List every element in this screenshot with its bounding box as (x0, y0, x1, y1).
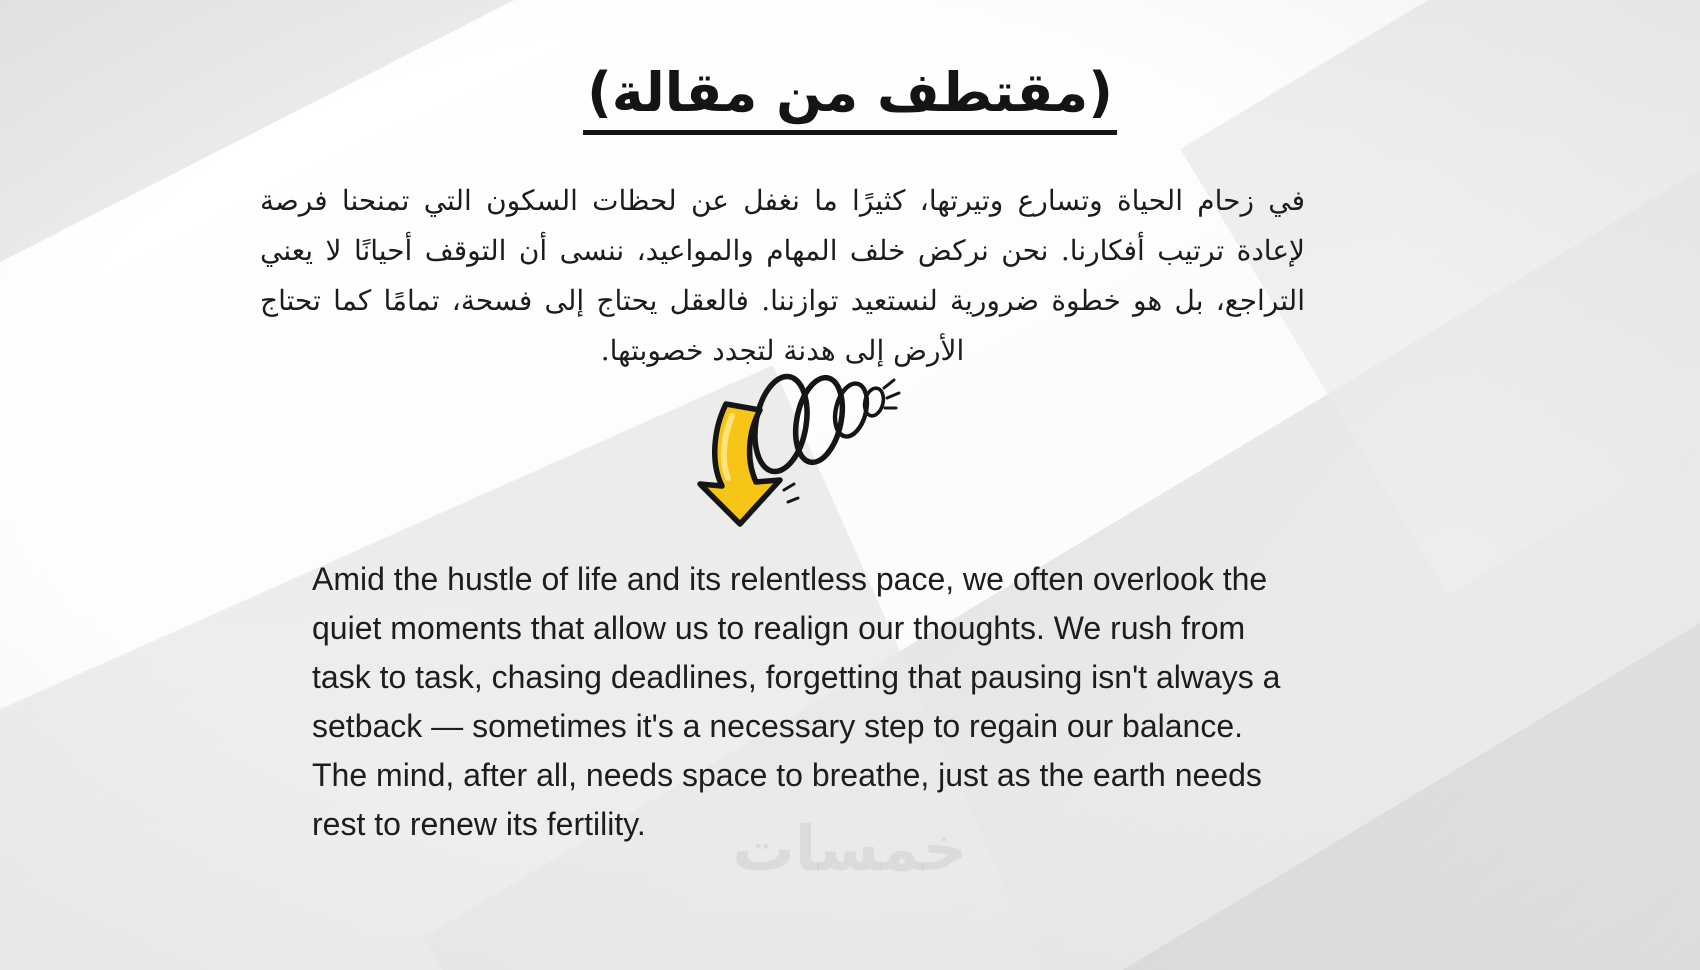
watermark: خمسات (0, 812, 1700, 885)
arabic-paragraph: في زحام الحياة وتسارع وتيرتها، كثيرًا ما… (260, 176, 1305, 376)
document-content: (مقتطف من مقالة) في زحام الحياة وتسارع و… (0, 0, 1700, 970)
arrow-body (700, 404, 780, 524)
curly-down-arrow-icon (688, 358, 918, 528)
document-page: (مقتطف من مقالة) في زحام الحياة وتسارع و… (0, 0, 1700, 970)
title-container: (مقتطف من مقالة) (0, 26, 1700, 171)
page-title: (مقتطف من مقالة) (583, 62, 1117, 135)
english-paragraph: Amid the hustle of life and its relentle… (312, 555, 1302, 849)
